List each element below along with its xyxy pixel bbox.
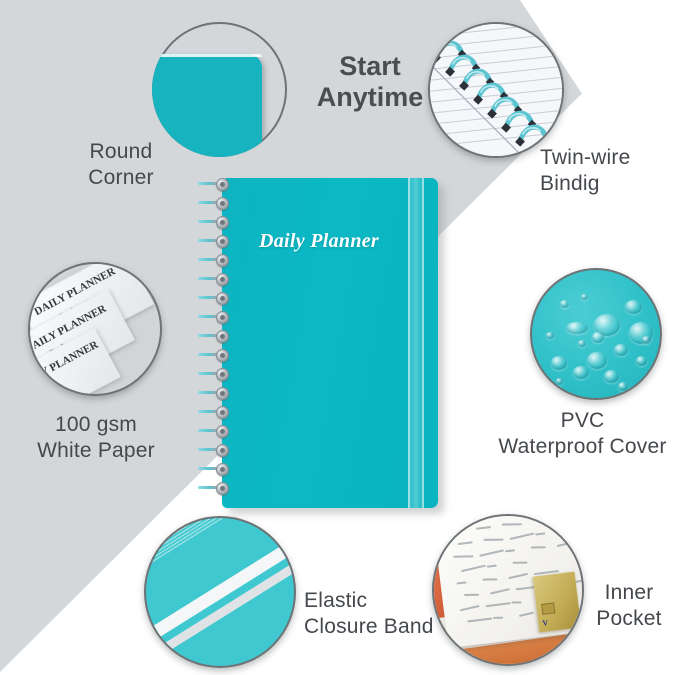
elastic-edge-right: [422, 178, 424, 508]
water-droplet: [592, 332, 604, 343]
spiral-wire: [198, 239, 218, 242]
spiral-wire: [198, 220, 218, 223]
handwriting-mark: [484, 539, 504, 541]
notebook-elastic-band: [408, 178, 424, 508]
water-droplet: [587, 352, 607, 369]
handwriting-mark: [513, 562, 528, 564]
spiral-wire: [198, 353, 218, 356]
handwriting-mark: [476, 526, 491, 529]
water-droplet: [614, 344, 628, 356]
water-droplet: [560, 300, 569, 308]
headline-start-anytime: Start Anytime: [300, 51, 440, 113]
product-feature-infographic: Daily Planner Round Corner Start Anytime…: [0, 0, 679, 675]
spiral-wire: [198, 429, 218, 432]
water-droplet: [556, 378, 563, 385]
spiral-ring: [216, 311, 229, 324]
label-inner-pocket: Inner Pocket: [582, 580, 676, 632]
handwriting-mark: [535, 532, 545, 535]
round-corner-circle: [152, 22, 287, 157]
handwriting-mark: [460, 605, 480, 611]
spiral-ring: [216, 235, 229, 248]
wire-loop: [464, 71, 490, 86]
water-droplet: [551, 356, 567, 370]
spiral-wire: [198, 182, 218, 185]
handwriting-mark: [450, 529, 460, 533]
spiral-ring: [216, 292, 229, 305]
handwriting-mark: [487, 565, 497, 568]
handwriting-mark: [461, 565, 486, 572]
spiral-wire: [198, 201, 218, 204]
spiral-wire: [198, 467, 218, 470]
spiral-wire: [198, 258, 218, 261]
handwriting-mark: [453, 555, 473, 557]
spiral-wire: [198, 391, 218, 394]
handwriting-mark: [458, 541, 473, 544]
water-droplet: [604, 370, 619, 383]
handwriting-mark: [509, 532, 534, 539]
spiral-wire: [198, 410, 218, 413]
water-droplet: [618, 382, 628, 391]
label-round-corner: Round Corner: [52, 139, 190, 191]
handwriting-mark: [508, 573, 528, 579]
spiral-wire: [198, 277, 218, 280]
spiral-ring: [216, 216, 229, 229]
wire-loop: [436, 43, 462, 58]
water-droplet: [578, 340, 586, 347]
label-twin-wire-binding: Twin-wire Bindig: [540, 145, 679, 197]
handwriting-mark: [485, 602, 510, 607]
spiral-wire: [198, 334, 218, 337]
spiral-wire: [198, 372, 218, 375]
spiral-ring: [216, 444, 229, 457]
handwriting-mark: [467, 618, 492, 623]
handwriting-mark: [457, 581, 467, 584]
handwriting-mark: [482, 578, 497, 580]
label-paper-weight: 100 gsm White Paper: [20, 412, 172, 464]
notebook-cover: Daily Planner: [222, 178, 438, 508]
pocket-card: V: [533, 572, 582, 633]
water-droplet: [566, 322, 588, 334]
spiral-ring: [216, 406, 229, 419]
water-droplet: [573, 366, 589, 379]
handwriting-mark: [519, 612, 534, 617]
elastic-edge-left: [408, 178, 410, 508]
handwriting-mark: [490, 588, 510, 594]
pvc-waterproof-circle: [530, 268, 662, 400]
elastic-closure-circle: [144, 516, 296, 668]
spiral-wire: [198, 448, 218, 451]
spiral-wire: [198, 486, 218, 489]
spiral-ring: [216, 425, 229, 438]
spiral-ring: [216, 330, 229, 343]
spiral-ring: [216, 178, 229, 191]
handwriting-mark: [557, 541, 577, 547]
label-pvc-waterproof-cover: PVC Waterproof Cover: [486, 408, 679, 460]
spiral-wire: [198, 296, 218, 299]
spiral-ring: [216, 349, 229, 362]
paper-sheet-3-subtitle: ist: [40, 383, 50, 393]
spiral-ring: [216, 387, 229, 400]
spiral-ring: [216, 254, 229, 267]
handwriting-mark: [505, 549, 515, 552]
handwriting-mark: [464, 594, 479, 596]
handwriting-mark: [502, 523, 522, 525]
spiral-wire: [198, 315, 218, 318]
pocket-card-logo: V: [542, 618, 549, 628]
pocket-card-chip: [541, 602, 555, 615]
water-droplet: [581, 294, 588, 300]
wire-loop: [478, 85, 504, 100]
water-droplet: [625, 300, 642, 314]
spiral-ring: [216, 463, 229, 476]
handwriting-mark: [531, 546, 546, 548]
spiral-ring: [216, 197, 229, 210]
wire-loop: [506, 113, 532, 128]
handwriting-mark: [493, 617, 503, 619]
daily-planner-notebook: Daily Planner: [222, 178, 438, 508]
spiral-ring: [216, 482, 229, 495]
notebook-spiral-binding: [198, 176, 232, 510]
wire-loop: [520, 127, 546, 142]
paper-weight-circle: DAILY PLANNER Top Priorities DAILY PLANN…: [28, 262, 162, 396]
twin-wire-loops-icon: [430, 24, 564, 158]
spiral-ring: [216, 273, 229, 286]
water-droplet: [636, 356, 647, 366]
handwriting-mark: [479, 549, 504, 556]
inner-pocket-circle: V: [432, 514, 584, 666]
spiral-ring: [216, 368, 229, 381]
wire-loop: [492, 99, 518, 114]
water-droplet: [546, 332, 554, 339]
notebook-title: Daily Planner: [222, 230, 438, 253]
handwriting-mark: [511, 601, 521, 603]
twin-wire-binding-circle: [428, 22, 564, 158]
wire-loop: [450, 57, 476, 72]
water-droplet: [642, 336, 651, 344]
